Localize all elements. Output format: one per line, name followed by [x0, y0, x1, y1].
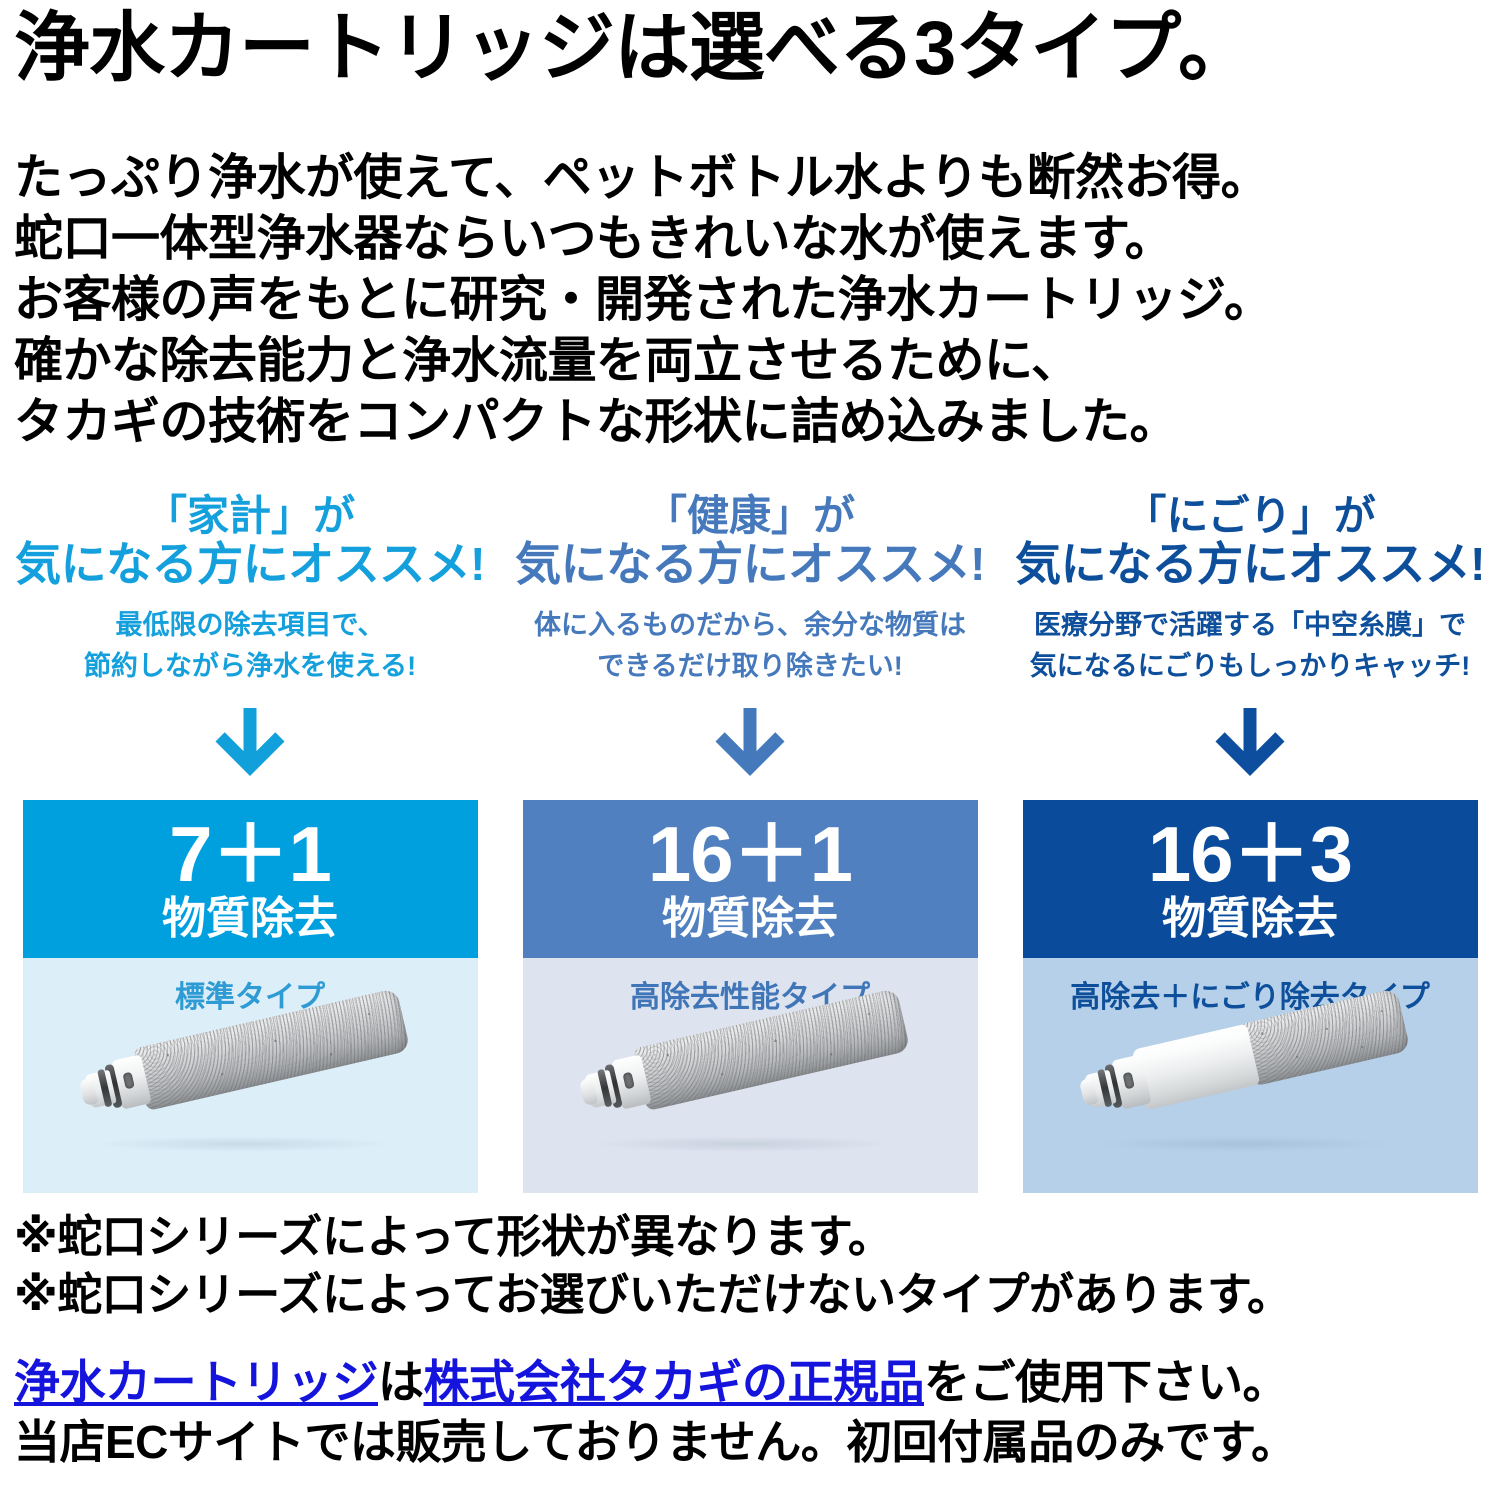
notes-block: ※蛇口シリーズによって形状が異なります。 ※蛇口シリーズによってお選びいただけな… — [14, 1208, 1494, 1324]
column-heading-line-1: 「健康」が — [515, 492, 985, 539]
column-subtext: 医療分野で活躍する「中空糸膜」で 気になるにごりもしっかりキャッチ! — [1030, 605, 1470, 689]
footer-text-tail: をご使用下さい。 — [924, 1356, 1288, 1408]
card-16plus1: 16＋1 物質除去 高除去性能タイプ — [523, 800, 978, 1193]
intro-line-4: 確かな除去能力と浄水流量を両立させるために、 — [14, 331, 1494, 392]
intro-paragraph: たっぷり浄水が使えて、ペットボトル水よりも断然お得。 蛇口一体型浄水器ならいつも… — [14, 148, 1494, 453]
cartridge-shadow — [593, 1136, 893, 1152]
cartridge-shadow — [1093, 1136, 1393, 1152]
page-title: 浄水カートリッジは選べる3タイプ。 — [14, 4, 1494, 94]
down-arrow-icon-wrap — [1202, 706, 1298, 794]
link-takagi-genuine[interactable]: 株式会社タカギの正規品 — [424, 1356, 925, 1408]
card-type-label: 高除去性能タイプ — [523, 972, 978, 1016]
cartridge-type-columns: 「家計」が 気になる方にオススメ! 最低限の除去項目で、 節約しながら浄水を使え… — [0, 492, 1500, 1193]
column-heading-line-2: 気になる方にオススメ! — [515, 539, 985, 591]
intro-line-5: タカギの技術をコンパクトな形状に詰め込みました。 — [14, 392, 1494, 453]
footer-text-mid: は — [378, 1356, 424, 1408]
column-subtext-line-2: できるだけ取り除きたい! — [534, 646, 966, 688]
cartridge-image — [523, 1020, 978, 1185]
card-number: 16＋1 — [648, 816, 852, 892]
column-heading-line-1: 「家計」が — [15, 492, 485, 539]
column-subtext-line-2: 節約しながら浄水を使える! — [84, 646, 416, 688]
column-heading: 「家計」が 気になる方にオススメ! — [15, 492, 485, 591]
footer-block: 浄水カートリッジは株式会社タカギの正規品をご使用下さい。 当店ECサイトでは販売… — [14, 1352, 1494, 1472]
column-health: 「健康」が 気になる方にオススメ! 体に入るものだから、余分な物質は できるだけ… — [500, 492, 1000, 1193]
column-turbidity: 「にごり」が 気になる方にオススメ! 医療分野で活躍する「中空糸膜」で 気になる… — [1000, 492, 1500, 1193]
column-heading-line-2: 気になる方にオススメ! — [15, 539, 485, 591]
card-header: 16＋3 物質除去 — [1023, 800, 1478, 958]
down-arrow-icon — [702, 706, 798, 794]
cartridge-shadow — [93, 1136, 393, 1152]
card-type-label: 高除去＋にごり除去タイプ — [1023, 972, 1478, 1016]
card-number: 16＋3 — [1148, 816, 1352, 892]
card-body: 標準タイプ — [23, 958, 478, 1193]
card-number-sub: 物質除去 — [162, 896, 338, 942]
down-arrow-icon-wrap — [202, 706, 298, 794]
down-arrow-icon-wrap — [702, 706, 798, 794]
column-subtext-line-1: 医療分野で活躍する「中空糸膜」で — [1030, 605, 1470, 647]
cartridge-image — [23, 1020, 478, 1185]
column-subtext-line-1: 体に入るものだから、余分な物質は — [534, 605, 966, 647]
card-number: 7＋1 — [169, 816, 331, 892]
column-heading: 「健康」が 気になる方にオススメ! — [515, 492, 985, 591]
column-subtext: 体に入るものだから、余分な物質は できるだけ取り除きたい! — [534, 605, 966, 689]
card-number-sub: 物質除去 — [662, 896, 838, 942]
card-16plus3: 16＋3 物質除去 高除去＋にごり除去タイプ — [1023, 800, 1478, 1193]
cartridge-image — [1023, 1020, 1478, 1185]
card-header: 7＋1 物質除去 — [23, 800, 478, 958]
footer-line-1: 浄水カートリッジは株式会社タカギの正規品をご使用下さい。 — [14, 1352, 1494, 1412]
down-arrow-icon — [1202, 706, 1298, 794]
card-type-label: 標準タイプ — [23, 972, 478, 1016]
intro-line-1: たっぷり浄水が使えて、ペットボトル水よりも断然お得。 — [14, 148, 1494, 209]
column-heading-line-2: 気になる方にオススメ! — [1015, 539, 1485, 591]
intro-line-2: 蛇口一体型浄水器ならいつもきれいな水が使えます。 — [14, 209, 1494, 270]
column-subtext-line-1: 最低限の除去項目で、 — [84, 605, 416, 647]
card-7plus1: 7＋1 物質除去 標準タイプ — [23, 800, 478, 1193]
note-line-1: ※蛇口シリーズによって形状が異なります。 — [14, 1208, 1494, 1266]
footer-line-2: 当店ECサイトでは販売しておりません。初回付属品のみです。 — [14, 1412, 1494, 1472]
column-household-budget: 「家計」が 気になる方にオススメ! 最低限の除去項目で、 節約しながら浄水を使え… — [0, 492, 500, 1193]
card-body: 高除去性能タイプ — [523, 958, 978, 1193]
column-subtext-line-2: 気になるにごりもしっかりキャッチ! — [1030, 646, 1470, 688]
intro-line-3: お客様の声をもとに研究・開発された浄水カートリッジ。 — [14, 270, 1494, 331]
column-heading: 「にごり」が 気になる方にオススメ! — [1015, 492, 1485, 591]
card-number-sub: 物質除去 — [1162, 896, 1338, 942]
column-heading-line-1: 「にごり」が — [1015, 492, 1485, 539]
note-line-2: ※蛇口シリーズによってお選びいただけないタイプがあります。 — [14, 1266, 1494, 1324]
column-subtext: 最低限の除去項目で、 節約しながら浄水を使える! — [84, 605, 416, 689]
card-body: 高除去＋にごり除去タイプ — [1023, 958, 1478, 1193]
down-arrow-icon — [202, 706, 298, 794]
card-header: 16＋1 物質除去 — [523, 800, 978, 958]
link-water-cartridge[interactable]: 浄水カートリッジ — [14, 1356, 378, 1408]
